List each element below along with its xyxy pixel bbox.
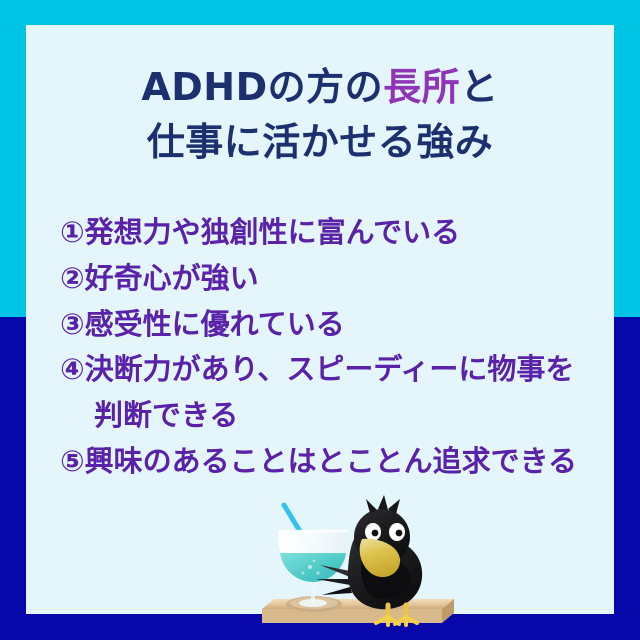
list-item-marker-4: ④ [60,352,85,386]
list-item-marker-1: ① [60,215,85,249]
wooden-board-icon [262,596,454,623]
title-line-1-suffix: と [460,65,499,109]
list-item-continuation-4: 判断できる [60,393,600,439]
title-line-2: 仕事に活かせる強み [26,115,614,170]
title-line-1-prefix: ADHDの方の [141,65,383,109]
list-item-marker-2: ② [60,261,85,295]
list-item-text-5: 興味のあることはとことん追求できる [85,444,577,478]
list-item: ③感受性に優れている [60,302,600,348]
page-title: ADHDの方の長所と 仕事に活かせる強み [26,60,614,170]
title-line-1-accent: 長所 [383,65,460,109]
list-item: ⑤興味のあることはとことん追求できる [60,439,600,485]
list-item-text-1: 発想力や独創性に富んでいる [85,215,461,249]
poster-canvas: ADHDの方の長所と 仕事に活かせる強み ①発想力や独創性に富んでいる ②好奇心… [0,0,640,640]
strengths-list: ①発想力や独創性に富んでいる ②好奇心が強い ③感受性に優れている ④決断力があ… [60,210,600,485]
list-item: ④決断力があり、スピーディーに物事を [60,347,600,393]
list-item-marker-3: ③ [60,307,85,341]
list-item-text-2: 好奇心が強い [85,261,259,295]
crow-with-cocktail-illustration [254,487,466,639]
content-panel: ADHDの方の長所と 仕事に活かせる強み ①発想力や独創性に富んでいる ②好奇心… [26,25,614,614]
list-item: ②好奇心が強い [60,256,600,302]
list-item-text-3: 感受性に優れている [85,307,345,341]
list-item: ①発想力や独創性に富んでいる [60,210,600,256]
list-item-text-4: 決断力があり、スピーディーに物事を [85,352,575,386]
list-item-marker-5: ⑤ [60,444,85,478]
title-line-1: ADHDの方の長所と [26,60,614,115]
